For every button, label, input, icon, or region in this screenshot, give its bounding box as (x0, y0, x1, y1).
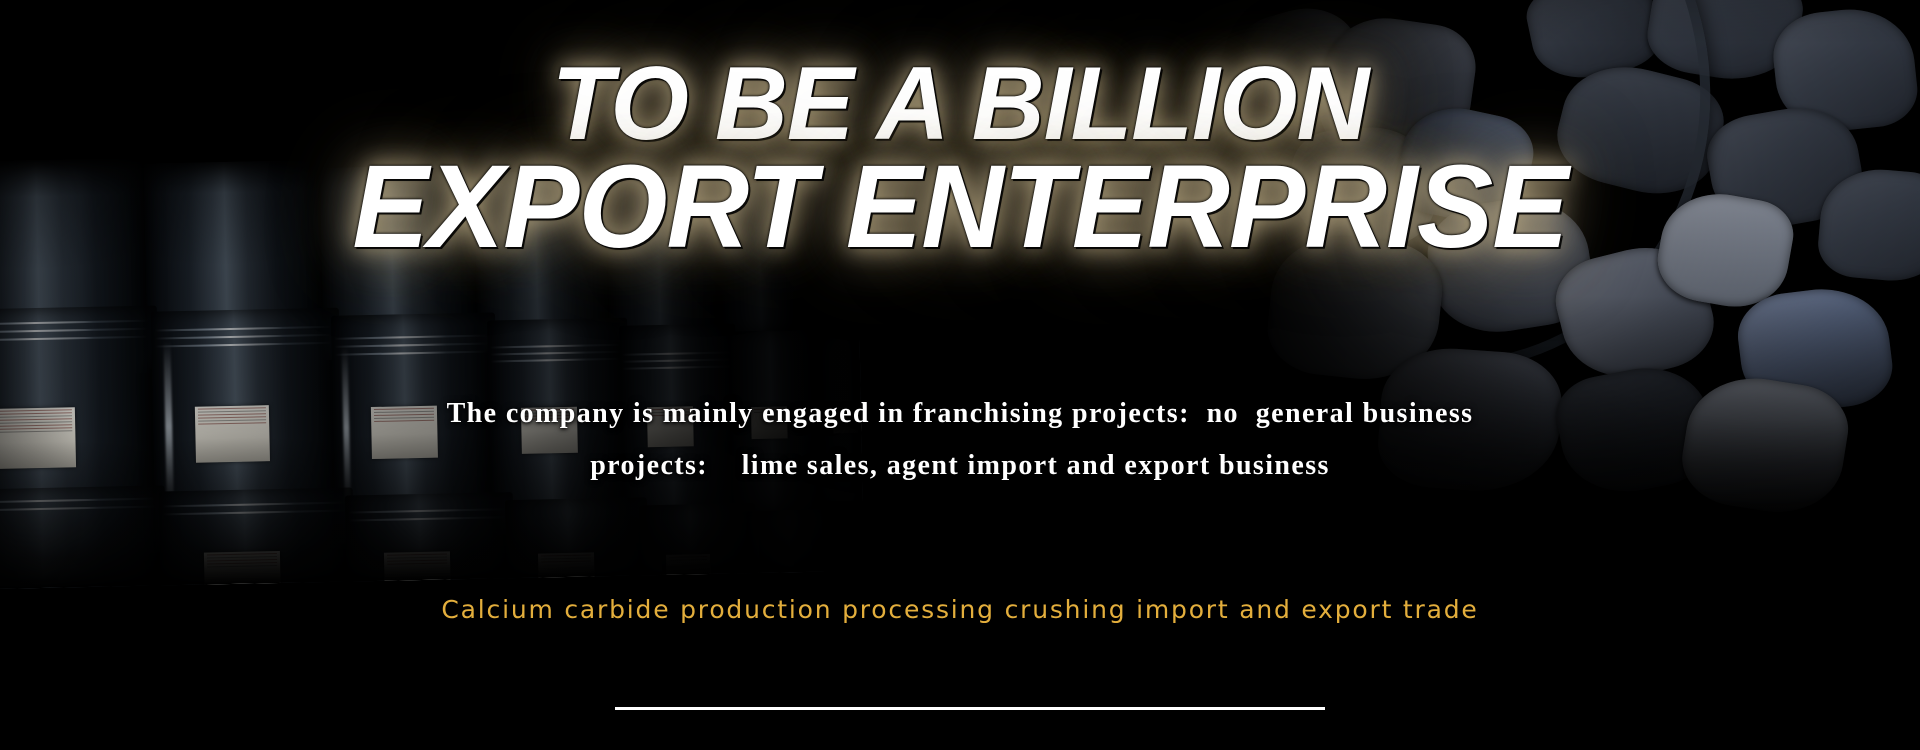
tagline: Calcium carbide production processing cr… (0, 595, 1920, 624)
subcopy-line-1: The company is mainly engaged in franchi… (0, 388, 1920, 440)
subcopy: The company is mainly engaged in franchi… (0, 388, 1920, 492)
divider-rule (615, 707, 1325, 710)
banner-content: TO BE A BILLION EXPORT ENTERPRISE The co… (0, 0, 1920, 750)
headline-line-2: EXPORT ENTERPRISE (29, 148, 1891, 266)
hero-banner: TO BE A BILLION EXPORT ENTERPRISE The co… (0, 0, 1920, 750)
subcopy-line-2: projects: lime sales, agent import and e… (0, 440, 1920, 492)
